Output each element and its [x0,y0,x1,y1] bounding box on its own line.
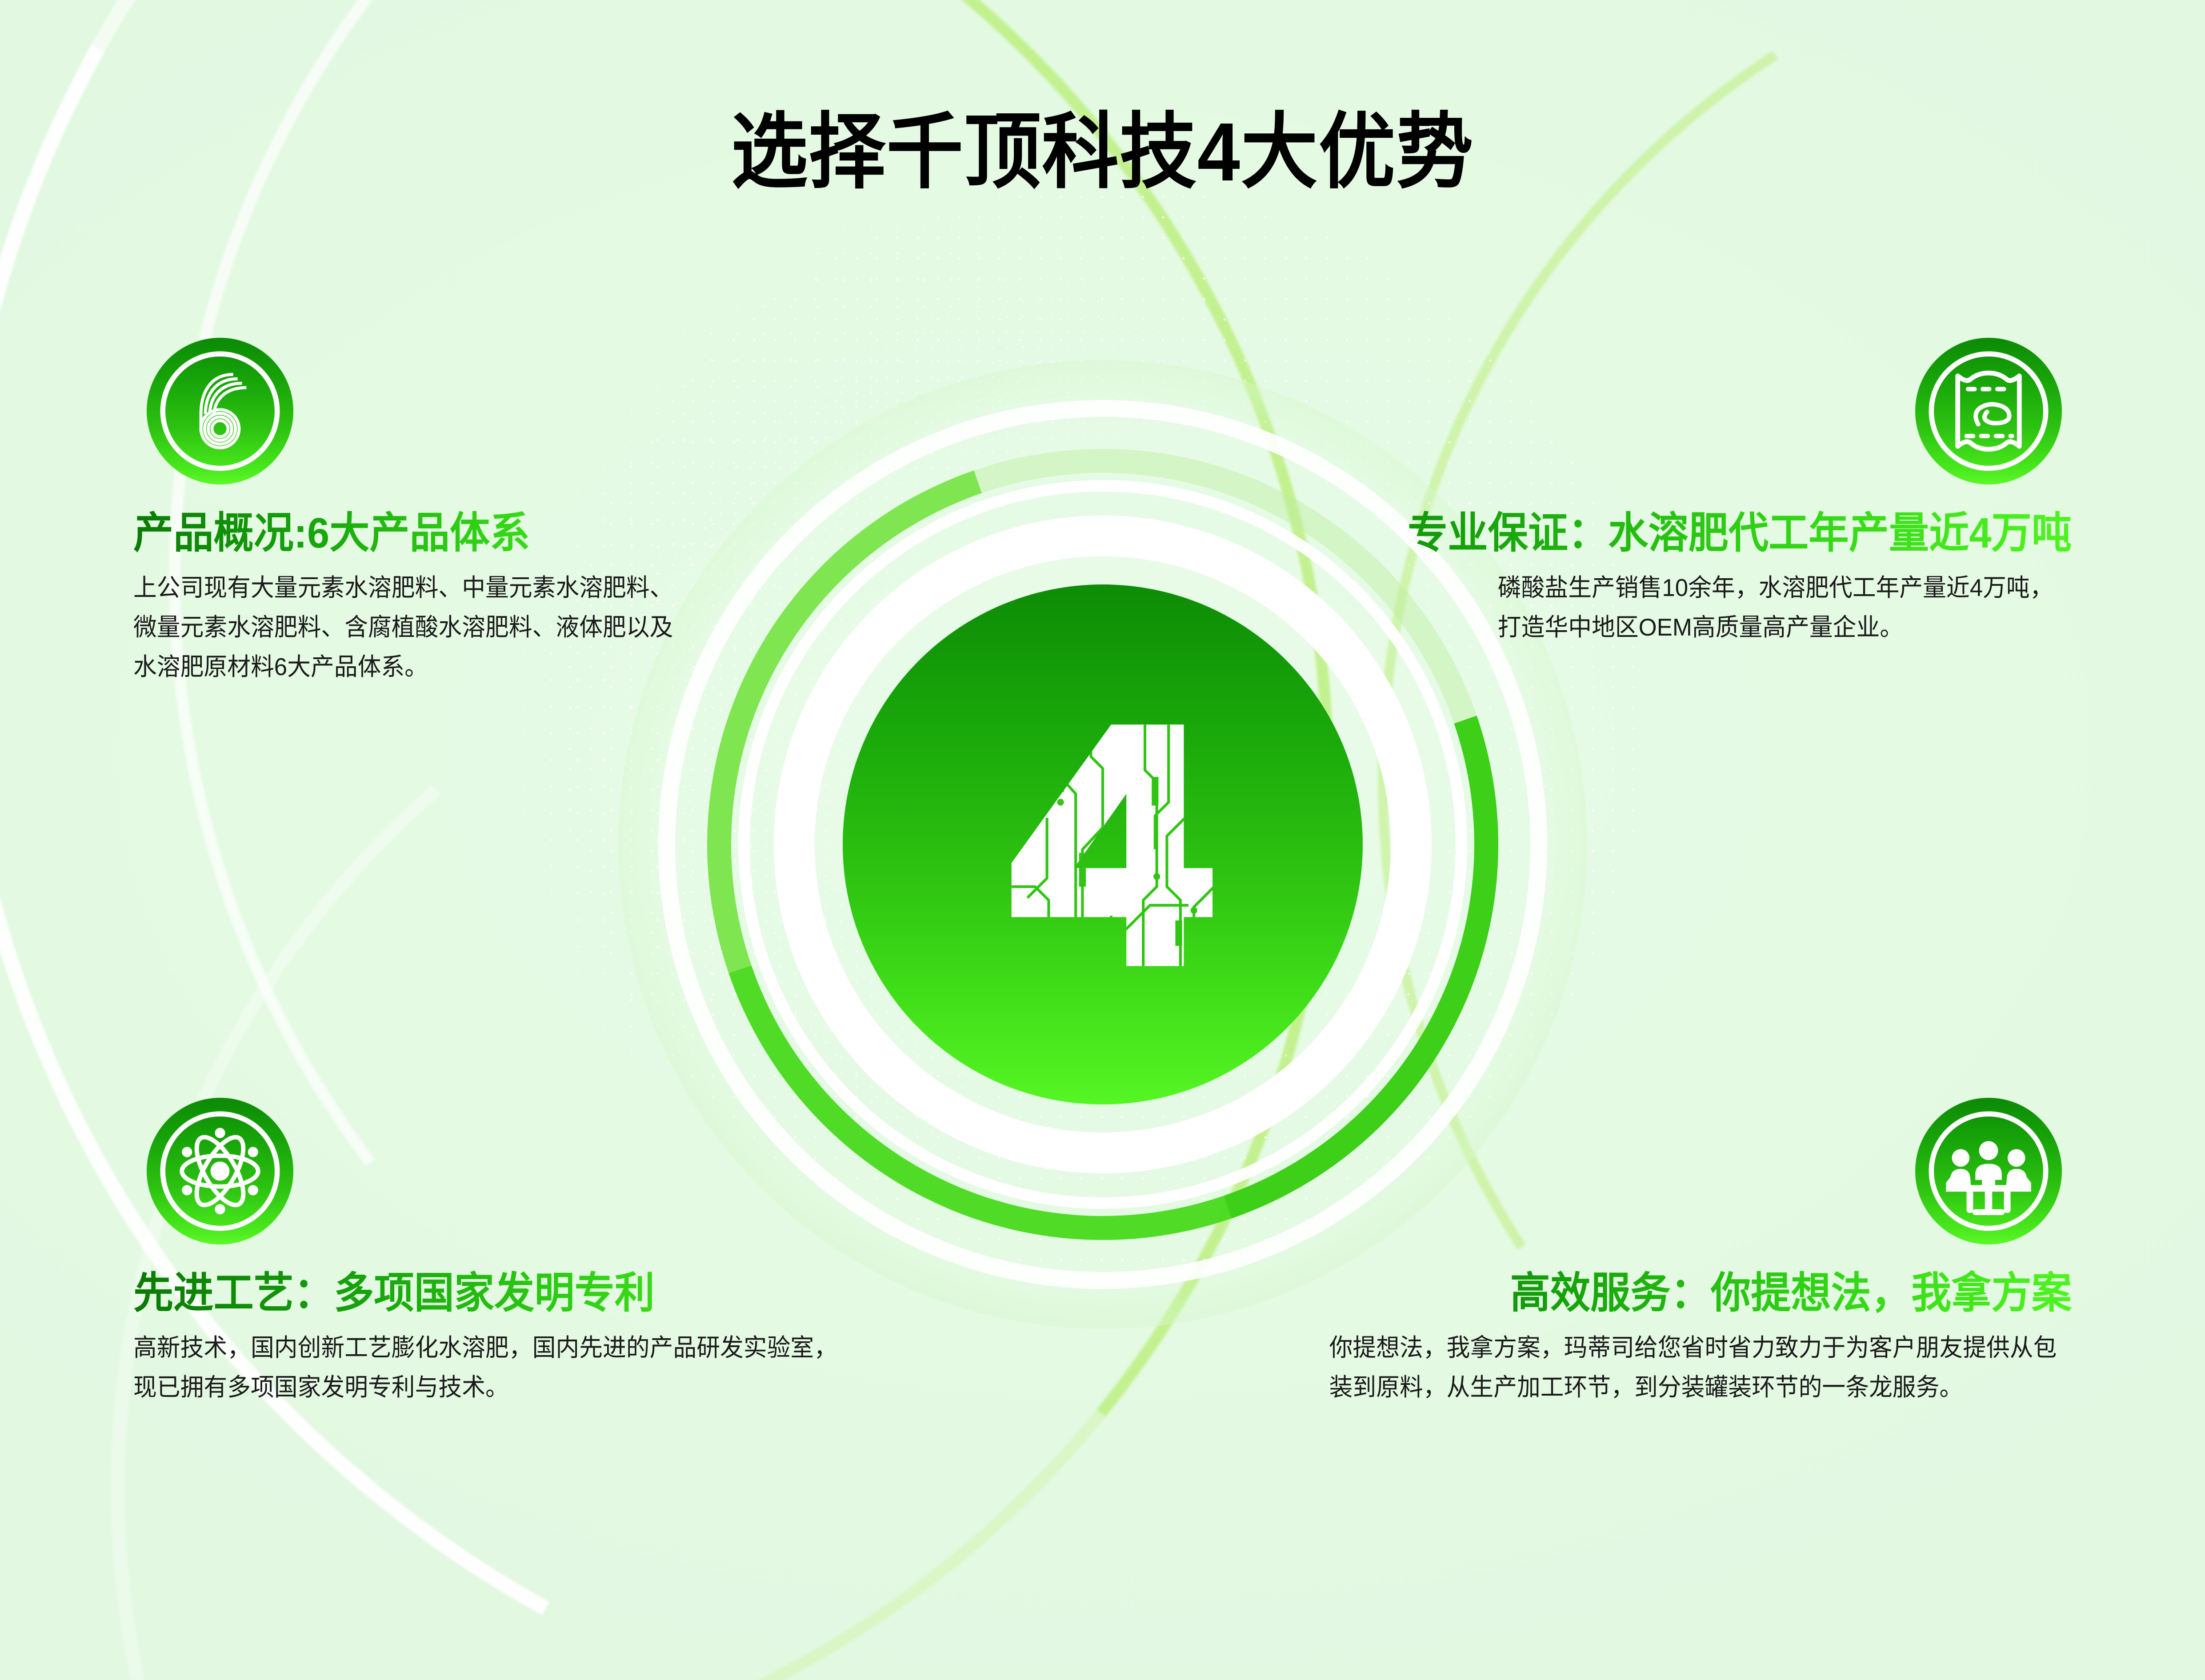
center-number-disc [843,584,1363,1104]
meeting-people-icon [1915,1098,2062,1244]
feature-advanced-process: 先进工艺：多项国家发明专利 高新技术，国内创新工艺膨化水溶肥，国内先进的产品研发… [133,1098,889,1407]
feature-body: 你提想法，我拿方案，玛蒂司给您省时省力致力于为客户朋友提供从包装到原料，从生产加… [1329,1328,2072,1407]
feature-body: 高新技术，国内创新工艺膨化水溶肥，国内先进的产品研发实验室，现已拥有多项国家发明… [133,1328,854,1407]
infographic-canvas: 选择千顶科技4大优势 [0,0,2205,1680]
page-title: 选择千顶科技4大优势 [77,111,2128,194]
feature-heading: 高效服务：你提想法，我拿方案 [1337,1270,2072,1316]
feature-heading: 产品概况:6大产品体系 [133,510,672,556]
feature-product-overview: 产品概况:6大产品体系 上公司现有大量元素水溶肥料、中量元素水溶肥料、微量元素水… [133,338,707,687]
feature-body: 上公司现有大量元素水溶肥料、中量元素水溶肥料、微量元素水溶肥料、含腐植酸水溶肥料… [133,568,675,687]
atom-icon [147,1098,293,1244]
feature-body: 磷酸盐生产销售10余年，水溶肥代工年产量近4万吨，打造华中地区OEM高质量高产量… [1498,568,2072,647]
number-six-icon [147,338,293,484]
feature-efficient-service: 高效服务：你提想法，我拿方案 你提想法，我拿方案，玛蒂司给您省时省力致力于为客户… [1289,1098,2072,1407]
feature-heading: 先进工艺：多项国家发明专利 [133,1270,844,1316]
feature-heading: 专业保证：水溶肥代工年产量近4万吨 [1203,510,2072,556]
fertilizer-bag-icon [1915,338,2062,484]
center-number-four-icon [934,676,1272,1013]
feature-professional-guarantee: 专业保证：水溶肥代工年产量近4万吨 磷酸盐生产销售10余年，水溶肥代工年产量近4… [1147,338,2072,647]
